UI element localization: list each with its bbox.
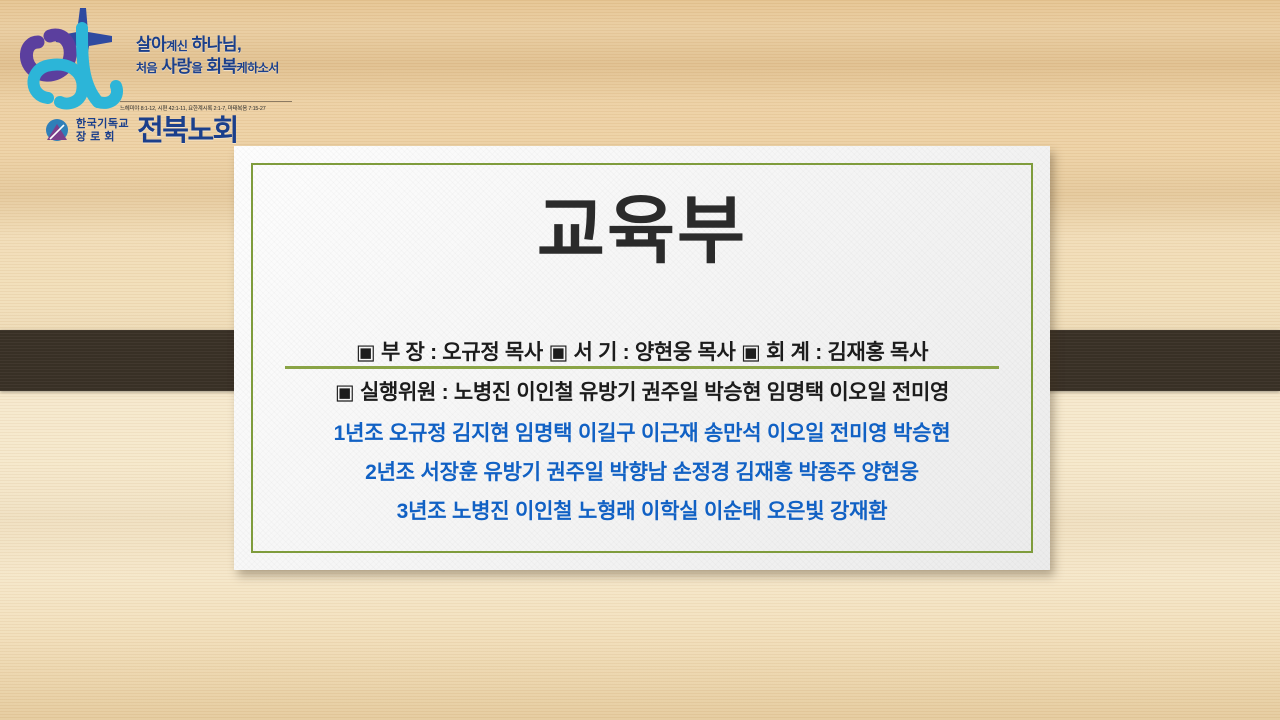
logo-organization-block: 한국기독교 장 로 회 전북노회	[42, 116, 238, 146]
denomination-line-2: 장 로 회	[76, 131, 129, 144]
page-title: 교육부	[234, 194, 1050, 268]
committee-line: ▣ 실행위원 : 노병진 이인철 유방기 권주일 박승현 임명택 이오일 전미영	[234, 376, 1050, 406]
list-item: 3년조 노병진 이인철 노형래 이학실 이순태 오은빛 강재환	[234, 492, 1050, 531]
ribbon-bar-left	[0, 330, 243, 391]
organization-logo: 살아계신 하나님, 처음 사랑을 회복케하소서 느헤미야 8:1-12, 시편 …	[14, 4, 284, 152]
logo-symbol-icon	[20, 6, 135, 110]
presbyterian-badge-icon	[42, 116, 72, 146]
list-item: 1년조 오규정 김지현 임명택 이길구 이근재 송만석 이오일 전미영 박승현	[234, 414, 1050, 453]
year-groups-list: 1년조 오규정 김지현 임명택 이길구 이근재 송만석 이오일 전미영 박승현 …	[234, 414, 1050, 531]
slogan-text-6: 을	[192, 61, 203, 75]
scripture-references: 느헤미야 8:1-12, 시편 42:1-11, 요한계시록 2:1-7, 마태…	[120, 101, 292, 112]
section-divider	[285, 366, 999, 369]
denomination-name: 한국기독교 장 로 회	[76, 118, 129, 145]
slogan-text-4: 처음	[136, 61, 157, 75]
organization-name: 전북노회	[137, 117, 238, 146]
denomination-line-1: 한국기독교	[76, 118, 129, 131]
content-card: 교육부 ▣ 부 장 : 오규정 목사 ▣ 서 기 : 양현웅 목사 ▣ 회 계 …	[234, 146, 1050, 570]
officers-line: ▣ 부 장 : 오규정 목사 ▣ 서 기 : 양현웅 목사 ▣ 회 계 : 김재…	[234, 336, 1050, 366]
list-item: 2년조 서장훈 유방기 권주일 박향남 손정경 김재홍 박종주 양현웅	[234, 453, 1050, 492]
slogan-text-7: 회복	[206, 57, 236, 76]
slogan-text-2: 계신	[166, 39, 187, 53]
slogan-text-8: 케하소서	[237, 61, 279, 75]
slogan-text-1: 살아	[136, 35, 166, 54]
slogan-text-5: 사랑	[161, 57, 191, 76]
presentation-slide: 살아계신 하나님, 처음 사랑을 회복케하소서 느헤미야 8:1-12, 시편 …	[0, 0, 1280, 720]
ribbon-bar-right	[1021, 330, 1280, 391]
slogan-text-3: 하나님,	[192, 35, 242, 54]
logo-slogan: 살아계신 하나님, 처음 사랑을 회복케하소서	[136, 34, 296, 78]
